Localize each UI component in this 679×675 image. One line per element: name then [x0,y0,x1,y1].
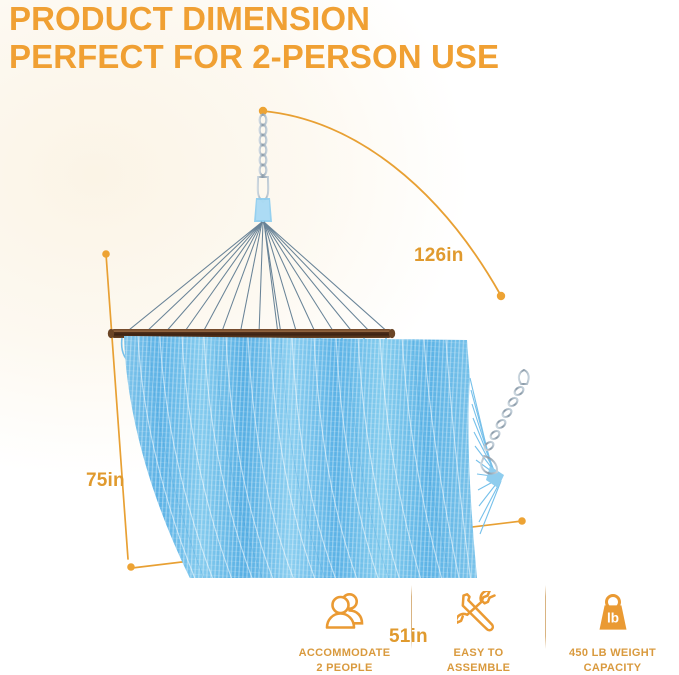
title-line-2: PERFECT FOR 2-PERSON USE [9,40,669,73]
feature-assembly-line2: ASSEMBLE [447,662,511,674]
feature-weight-line2: CAPACITY [584,662,642,674]
two-people-icon [315,587,375,637]
feature-list: ACCOMMODATE 2 PEOPLE EASY TO ASSEMBLE [278,583,679,673]
weight-icon-text: lb [607,611,619,626]
right-chain [481,370,529,474]
top-chain [258,115,269,202]
dimension-label-126: 126in [414,245,464,267]
feature-assembly-label: EASY TO ASSEMBLE [447,646,511,675]
tools-icon [449,587,509,637]
feature-weight-label: 450 LB WEIGHT CAPACITY [569,646,656,675]
infographic-root: PRODUCT DIMENSION PERFECT FOR 2-PERSON U… [0,0,679,673]
dimension-line-75 [106,254,128,559]
feature-assembly: EASY TO ASSEMBLE [412,583,545,675]
dimension-arc-126 [263,111,500,294]
feature-accommodate-line2: 2 PEOPLE [316,662,372,674]
hammock-bed [124,336,478,578]
page-title: PRODUCT DIMENSION PERFECT FOR 2-PERSON U… [9,2,669,73]
top-suspension-ropes [124,222,390,334]
feature-weight-capacity: lb 450 LB WEIGHT CAPACITY [546,583,679,675]
feature-assembly-line1: EASY TO [454,647,504,659]
feature-weight-line1: 450 LB WEIGHT [569,647,656,659]
endpoint-right-anchor [497,292,505,300]
product-illustration: 126in 75in 51in [0,78,679,578]
endpoint-75-top [102,250,110,258]
weight-icon: lb [583,587,643,637]
endpoint-51-right [518,517,526,525]
endpoint-51-left [127,563,135,571]
feature-accommodate: ACCOMMODATE 2 PEOPLE [278,583,411,675]
title-line-1: PRODUCT DIMENSION [9,2,669,35]
feature-accommodate-label: ACCOMMODATE 2 PEOPLE [299,646,391,675]
dimension-label-75: 75in [86,470,125,492]
feature-accommodate-line1: ACCOMMODATE [299,647,391,659]
